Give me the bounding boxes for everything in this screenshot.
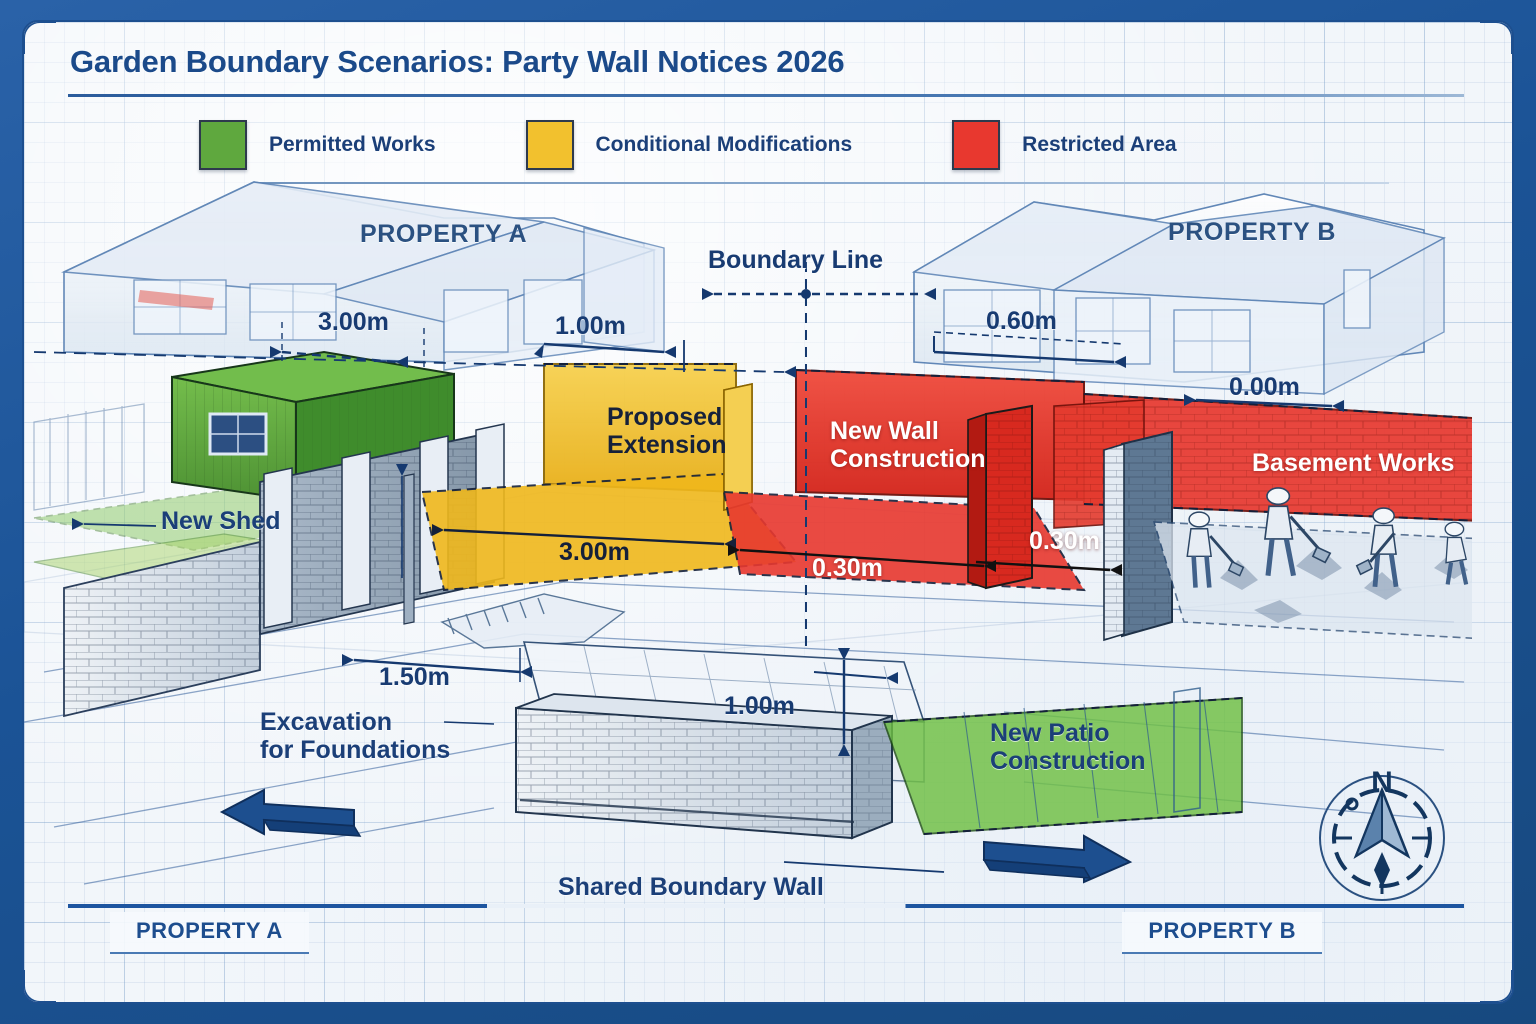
isometric-site-plan: PROPERTY A PROPERTY B Boundary Line New … xyxy=(24,22,1512,1002)
compass-north-label: N xyxy=(1371,766,1393,799)
footer-property-b: PROPERTY B xyxy=(1122,912,1322,954)
zone-shared-boundary-wall xyxy=(516,642,924,838)
zone-basement-works xyxy=(1054,394,1472,640)
fence-sketch xyxy=(34,404,144,510)
property-a-tag: PROPERTY A xyxy=(360,220,527,249)
blueprint-frame: Garden Boundary Scenarios: Party Wall No… xyxy=(0,0,1536,1024)
zone-new-wall-construction xyxy=(724,370,1084,590)
zone-new-patio xyxy=(884,688,1242,834)
footer-property-a: PROPERTY A xyxy=(110,912,309,954)
direction-arrow-left xyxy=(222,790,360,836)
property-b-tag: PROPERTY B xyxy=(1168,218,1336,247)
house-a-ghost xyxy=(64,182,664,370)
footer-label: PROPERTY A xyxy=(136,918,283,943)
compass-rose: N xyxy=(1312,762,1452,902)
footer-label: PROPERTY B xyxy=(1148,918,1296,943)
drawing-sheet: Garden Boundary Scenarios: Party Wall No… xyxy=(22,20,1514,1004)
direction-arrow-right xyxy=(984,836,1130,882)
scene-canvas xyxy=(24,22,1472,982)
footer-divider xyxy=(68,904,1464,908)
